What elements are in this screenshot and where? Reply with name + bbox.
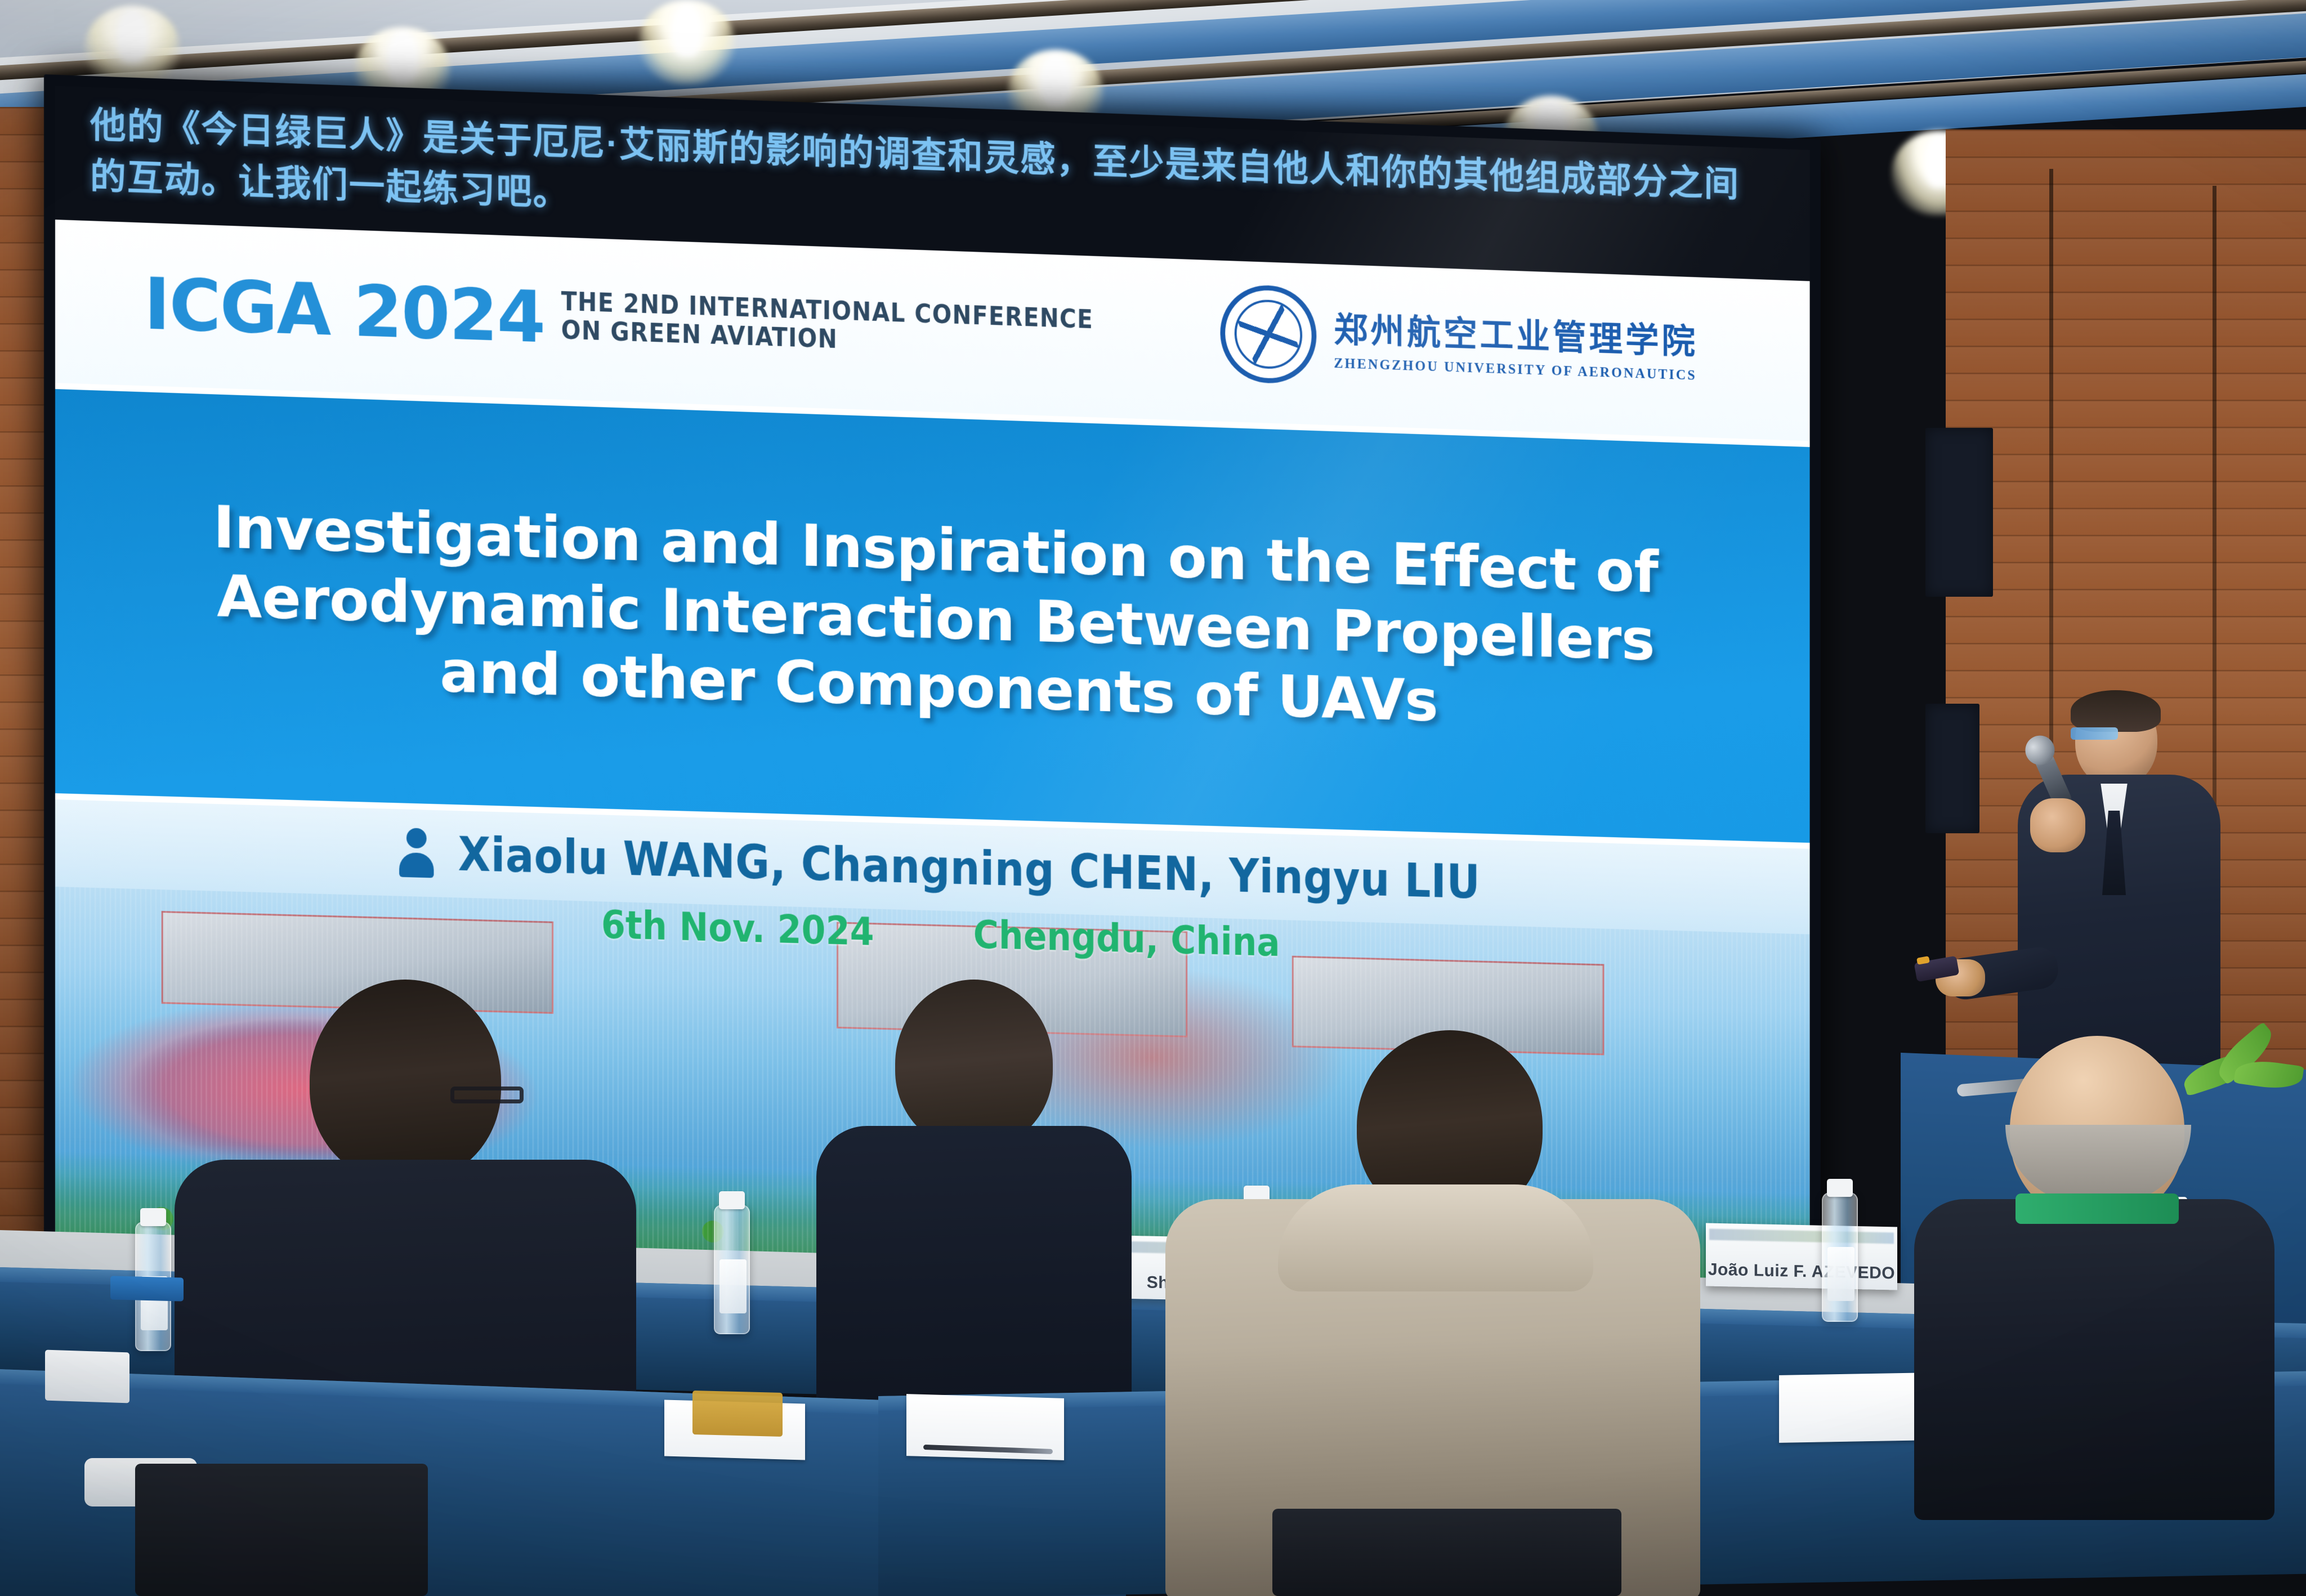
audience-torso (1914, 1199, 2274, 1520)
wall-speaker-panel (1925, 704, 1979, 833)
person-icon-body (400, 852, 434, 878)
icga-logo: ICGA 2024 THE 2ND INTERNATIONAL CONFEREN… (144, 272, 1093, 368)
hoodie-hood (1278, 1184, 1593, 1291)
glasses-icon (450, 1087, 524, 1103)
aeronautics-bird-icon (1237, 303, 1299, 365)
name-placard: João Luiz F. AZEVEDO (1706, 1223, 1897, 1290)
ceiling-downlight (84, 6, 180, 90)
audience-head (310, 980, 501, 1182)
presentation-location: Chengdu, China (973, 911, 1280, 965)
desk-card (45, 1350, 129, 1403)
university-seal-icon (1220, 284, 1316, 385)
wall-speaker-panel (1925, 428, 1993, 597)
university-name-cn: 郑州航空工业管理学院 (1334, 302, 1697, 364)
chair-back (1272, 1509, 1621, 1596)
chair-back (135, 1464, 428, 1596)
university-name-block: 郑州航空工业管理学院 ZHENGZHOU UNIVERSITY OF AERON… (1334, 302, 1697, 384)
authors-list: Xiaolu WANG, Changning CHEN, Yingyu LIU (458, 826, 1481, 909)
placard-name: João Luiz F. AZEVEDO (1708, 1260, 1895, 1284)
speaker-hair (2071, 690, 2161, 732)
speaker-glasses-icon (2071, 727, 2118, 740)
speaker-hand-right (2030, 798, 2085, 852)
audience-member (1925, 1036, 2263, 1520)
audience-head (895, 980, 1053, 1148)
person-icon-head (406, 828, 427, 849)
screenshot-root: 他的《今日绿巨人》是关于厄尼·艾丽斯的影响的调查和灵感，至少是来自他人和你的其他… (0, 0, 2306, 1596)
person-icon (397, 828, 437, 878)
icga-logo-word: ICGA 2024 (144, 272, 544, 350)
blue-folder (110, 1276, 184, 1301)
slide-title-block: Investigation and Inspiration on the Eff… (54, 383, 1811, 849)
ceiling-downlight (639, 0, 735, 84)
conference-badge (692, 1391, 783, 1437)
university-logo: 郑州航空工业管理学院 ZHENGZHOU UNIVERSITY OF AERON… (1220, 284, 1697, 397)
presentation-date: 6th Nov. 2024 (601, 901, 874, 954)
placard-header-strip (1709, 1229, 1894, 1244)
icga-logo-subtitle: THE 2ND INTERNATIONAL CONFERENCE ON GREE… (561, 287, 1093, 368)
water-bottle (1822, 1192, 1858, 1322)
water-bottle (714, 1205, 750, 1334)
lanyard (2015, 1193, 2179, 1224)
